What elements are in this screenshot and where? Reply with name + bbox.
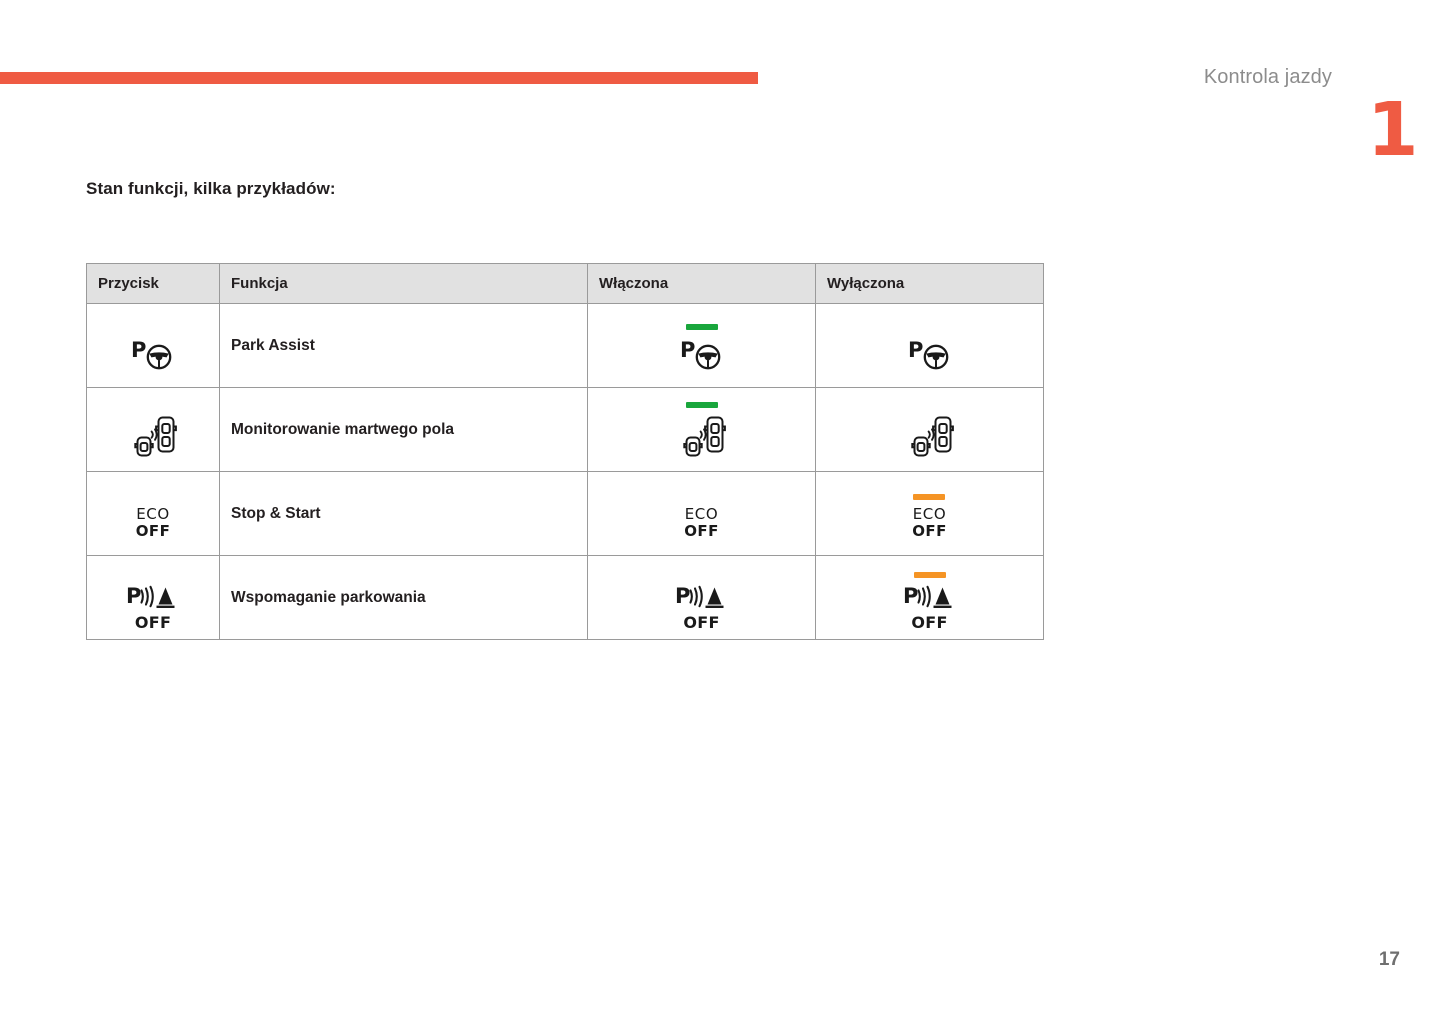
off-label: OFF: [912, 522, 946, 540]
park-assist-enabled-indicator: P: [679, 324, 725, 374]
cell-disabled-blind-spot: [816, 388, 1044, 472]
cell-enabled-park-assist: P: [588, 304, 816, 388]
column-header-disabled: Wyłączona: [816, 264, 1044, 304]
park-sensors-glyph: P: [674, 584, 730, 614]
eco-off-icon: ECO OFF: [136, 494, 170, 540]
cell-enabled-blind-spot: [588, 388, 816, 472]
cell-button-parking-sensors: P OFF: [87, 556, 220, 640]
state-bar: [685, 494, 717, 500]
park-assist-glyph: P: [679, 336, 725, 374]
eco-off-glyph: ECO OFF: [912, 506, 946, 540]
column-header-button: Przycisk: [87, 264, 220, 304]
svg-text:P: P: [903, 584, 918, 608]
eco-off-disabled-indicator: ECO OFF: [912, 494, 946, 540]
state-bar: [137, 402, 169, 408]
eco-label: ECO: [685, 505, 719, 523]
off-label: OFF: [135, 615, 171, 631]
off-label: OFF: [684, 522, 718, 540]
eco-off-glyph: ECO OFF: [136, 506, 170, 540]
blind-spot-glyph: [678, 414, 726, 464]
state-bar: [914, 324, 946, 330]
cell-function-name: Monitorowanie martwego pola: [220, 388, 588, 472]
svg-text:P: P: [908, 338, 923, 362]
state-bar-green: [686, 402, 718, 408]
cell-disabled-park-assist: P: [816, 304, 1044, 388]
state-bar-orange: [913, 494, 945, 500]
state-bar: [137, 572, 169, 578]
eco-label: ECO: [913, 505, 947, 523]
column-header-function: Funkcja: [220, 264, 588, 304]
table-row: ECO OFF Stop & Start ECO OFF: [87, 472, 1044, 556]
park-sensors-off-icon: P OFF: [125, 572, 181, 631]
eco-label: ECO: [136, 505, 170, 523]
state-bar: [914, 402, 946, 408]
table-row: P OFF Wspomaganie parkowania: [87, 556, 1044, 640]
section-intro-text: Stan funkcji, kilka przykładów:: [86, 179, 336, 199]
column-header-enabled: Włączona: [588, 264, 816, 304]
svg-text:P: P: [680, 338, 695, 362]
function-state-table: Przycisk Funkcja Włączona Wyłączona P: [86, 263, 1044, 640]
off-label: OFF: [911, 615, 947, 631]
chapter-number-badge: 1: [1367, 96, 1395, 164]
blind-spot-monitoring-icon: [129, 402, 177, 464]
cell-button-blind-spot: [87, 388, 220, 472]
svg-text:P: P: [675, 584, 690, 608]
off-label: OFF: [136, 522, 170, 540]
svg-text:P: P: [126, 584, 141, 608]
eco-off-enabled-indicator: ECO OFF: [684, 494, 718, 540]
park-sensors-disabled-indicator: P OFF: [902, 572, 958, 631]
off-label: OFF: [683, 615, 719, 631]
eco-off-glyph: ECO OFF: [684, 506, 718, 540]
park-sensors-enabled-indicator: P OFF: [674, 572, 730, 631]
cell-function-name: Stop & Start: [220, 472, 588, 556]
blind-spot-glyph: [906, 414, 954, 464]
page-number: 17: [1379, 949, 1400, 971]
cell-function-name: Wspomaganie parkowania: [220, 556, 588, 640]
table-row: P Park Assist: [87, 304, 1044, 388]
cell-enabled-stop-start: ECO OFF: [588, 472, 816, 556]
table-header: Przycisk Funkcja Włączona Wyłączona: [87, 264, 1044, 304]
park-assist-steering-wheel-icon: P: [130, 324, 176, 374]
park-assist-disabled-indicator: P: [907, 324, 953, 374]
blind-spot-enabled-indicator: [678, 402, 726, 464]
cell-button-park-assist: P: [87, 304, 220, 388]
park-sensors-glyph: P: [902, 584, 958, 614]
state-bar: [686, 572, 718, 578]
table-body: P Park Assist: [87, 304, 1044, 640]
park-assist-glyph: P: [907, 336, 953, 374]
page-header-title: Kontrola jazdy: [1204, 66, 1332, 89]
cell-function-name: Park Assist: [220, 304, 588, 388]
cell-enabled-parking-sensors: P OFF: [588, 556, 816, 640]
state-bar-green: [686, 324, 718, 330]
park-sensors-glyph: P: [125, 584, 181, 614]
state-bar-orange: [914, 572, 946, 578]
table-header-row: Przycisk Funkcja Włączona Wyłączona: [87, 264, 1044, 304]
table-row: Monitorowanie martwego pola: [87, 388, 1044, 472]
header-accent-rule: [0, 72, 758, 84]
cell-disabled-parking-sensors: P OFF: [816, 556, 1044, 640]
state-bar: [137, 324, 169, 330]
state-bar: [137, 494, 169, 500]
cell-disabled-stop-start: ECO OFF: [816, 472, 1044, 556]
cell-button-stop-start: ECO OFF: [87, 472, 220, 556]
blind-spot-glyph: [129, 414, 177, 464]
svg-text:P: P: [131, 338, 146, 362]
blind-spot-disabled-indicator: [906, 402, 954, 464]
park-assist-glyph: P: [130, 336, 176, 374]
